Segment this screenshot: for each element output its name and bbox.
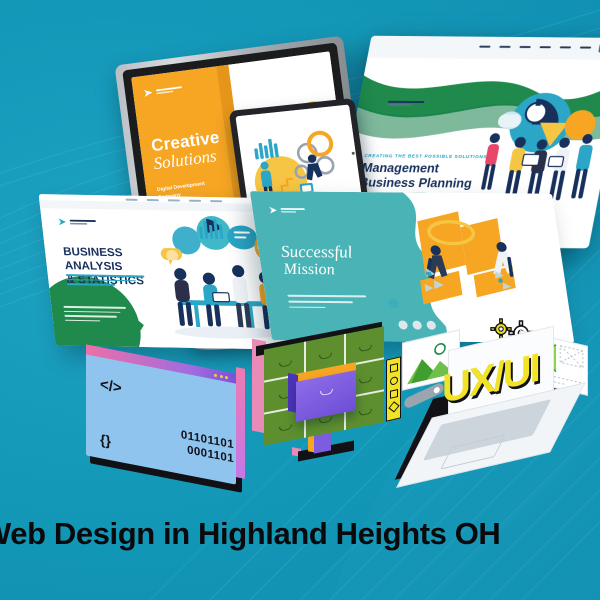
diamond-tool-icon[interactable] (388, 401, 399, 412)
traffic-dot[interactable] (214, 374, 217, 378)
tool-palette[interactable] (386, 356, 401, 421)
drawer-handle[interactable] (359, 345, 372, 353)
pen-tool-icon[interactable] (390, 363, 398, 373)
nav-item[interactable] (125, 199, 137, 201)
stylus-tip (433, 386, 440, 394)
page-headline: Web Design in Highland Heights OH (0, 516, 600, 552)
drawer-handle[interactable] (359, 377, 372, 385)
body-line (287, 295, 366, 297)
body-line (66, 279, 135, 282)
body-line (288, 300, 353, 302)
nav-item[interactable] (580, 46, 591, 48)
ellipse-tool-icon[interactable] (390, 376, 398, 386)
badge-line (64, 310, 120, 313)
mission-logo (268, 205, 316, 215)
nav-item[interactable] (210, 200, 222, 202)
nav-item[interactable] (189, 200, 201, 202)
nav-item[interactable] (540, 46, 551, 48)
badge-line (64, 315, 117, 318)
ux-ui-laptop[interactable]: UX/UI (386, 318, 600, 498)
code-brace-icon: {} (100, 431, 111, 449)
nav-item[interactable] (147, 199, 159, 201)
code-window[interactable]: </> {} 01101101 0001101 (86, 360, 254, 488)
analysis-card-logo (57, 216, 105, 228)
code-window-side-face (236, 367, 245, 479)
drawer-handle[interactable] (319, 352, 332, 360)
traffic-dot[interactable] (225, 376, 228, 380)
rect-tool-icon[interactable] (390, 389, 398, 399)
nav-item[interactable] (479, 46, 490, 48)
open-drawer-handle[interactable] (320, 389, 333, 397)
nav-item[interactable] (168, 199, 180, 201)
drawer-handle[interactable] (279, 424, 292, 432)
analysis-card-badge-text (63, 306, 127, 322)
mission-body (287, 295, 368, 313)
drawer-handle[interactable] (279, 360, 292, 368)
mission-title: Successful Mission (280, 243, 404, 280)
nav-item[interactable] (519, 46, 530, 48)
browser-nav-menu[interactable] (479, 46, 591, 49)
mission-title-line1: Successful (280, 243, 401, 261)
drawer-handle[interactable] (319, 416, 332, 424)
body-line (289, 306, 325, 308)
body-line (66, 274, 145, 277)
traffic-dot[interactable] (220, 375, 223, 379)
analysis-card-body (66, 274, 146, 286)
nav-item[interactable] (499, 46, 510, 48)
browser-logo (374, 97, 428, 108)
mission-title-line2: Mission (282, 262, 403, 280)
drawer-handle[interactable] (359, 409, 372, 417)
nav-item[interactable] (560, 46, 571, 48)
badge-line (63, 306, 126, 309)
filing-cabinet[interactable] (252, 334, 396, 458)
hero-graphic: CREATING THE BEST POSSIBLE SOLUTIONS Man… (0, 0, 600, 600)
